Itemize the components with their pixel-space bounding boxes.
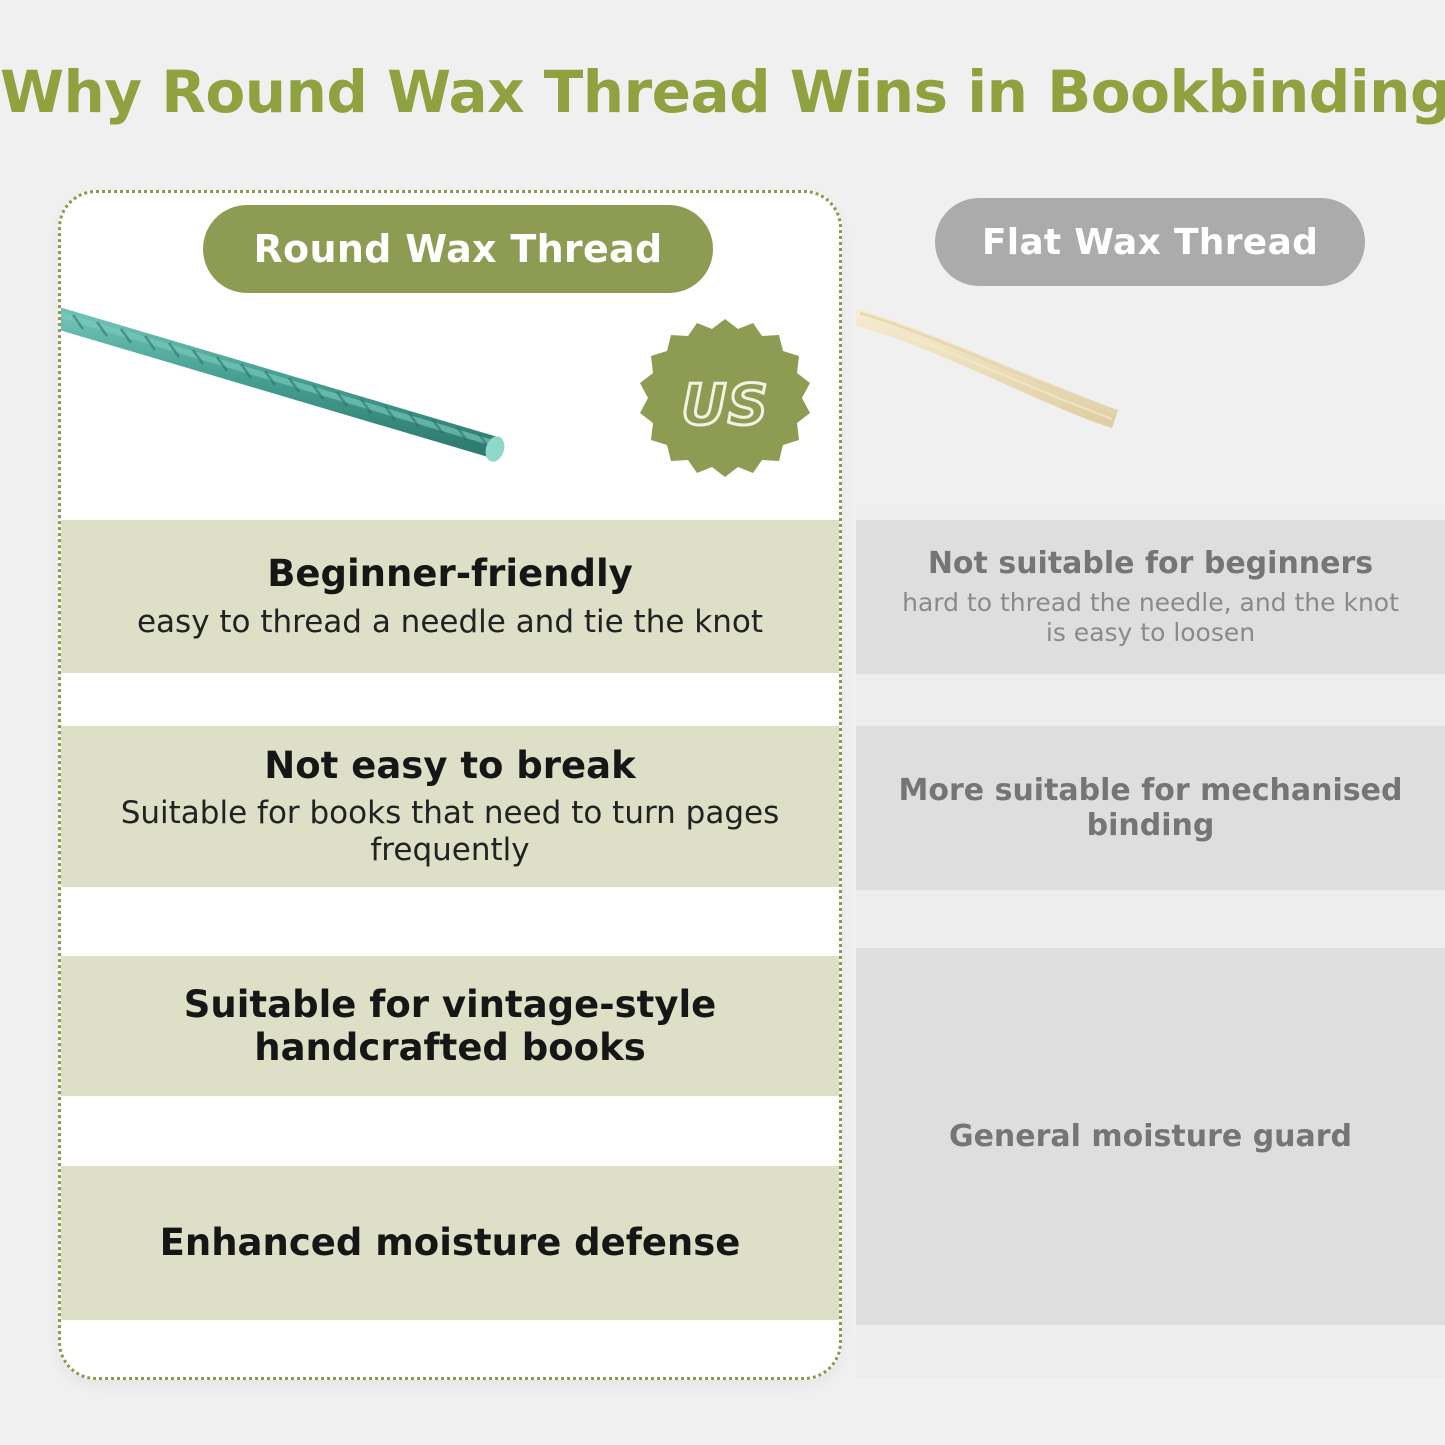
round-feature-band-4: Enhanced moisture defense [61,1166,839,1320]
flat-feature-title: Not suitable for beginners [902,546,1399,581]
gray-separator [856,1325,1445,1378]
flat-wax-thread-icon [856,296,1156,456]
round-feature-band-2: Not easy to break Suitable for books tha… [61,726,839,887]
flat-wax-thread-column: Not suitable for beginners hard to threa… [856,176,1445,1378]
round-wax-thread-card: Beginner-friendly easy to thread a needl… [58,190,842,1380]
flat-wax-thread-pill: Flat Wax Thread [935,198,1365,286]
flat-feature-title: More suitable for mechanised binding [856,773,1445,844]
gray-separator [856,504,1445,520]
round-feature-subtitle: easy to thread a needle and tie the knot [111,596,789,641]
flat-feature-title: General moisture guard [923,1119,1378,1154]
round-wax-thread-pill: Round Wax Thread [203,205,713,293]
round-feature-band-3: Suitable for vintage-style handcrafted b… [61,956,839,1096]
gray-separator [856,890,1445,948]
page-title: Why Round Wax Thread Wins in Bookbinding [0,58,1445,126]
round-feature-band-1: Beginner-friendly easy to thread a needl… [61,520,839,673]
flat-feature-subtitle: hard to thread the needle, and the knot … [856,582,1445,648]
round-feature-title: Not easy to break [240,744,659,787]
round-wax-thread-pill-label: Round Wax Thread [254,227,663,271]
infographic-root: Why Round Wax Thread Wins in Bookbinding… [0,0,1445,1445]
round-feature-title: Suitable for vintage-style handcrafted b… [61,983,839,1070]
flat-feature-band-2: More suitable for mechanised binding [856,726,1445,890]
flat-feature-band-1: Not suitable for beginners hard to threa… [856,520,1445,674]
round-feature-subtitle: Suitable for books that need to turn pag… [61,787,839,869]
round-feature-title: Beginner-friendly [243,552,657,595]
flat-feature-band-3: General moisture guard [856,948,1445,1325]
gray-separator [856,674,1445,726]
round-wax-thread-icon [61,301,521,481]
us-badge: US [635,315,815,495]
flat-wax-thread-pill-label: Flat Wax Thread [982,222,1318,263]
us-badge-label: US [635,315,815,495]
round-feature-title: Enhanced moisture defense [136,1221,765,1264]
